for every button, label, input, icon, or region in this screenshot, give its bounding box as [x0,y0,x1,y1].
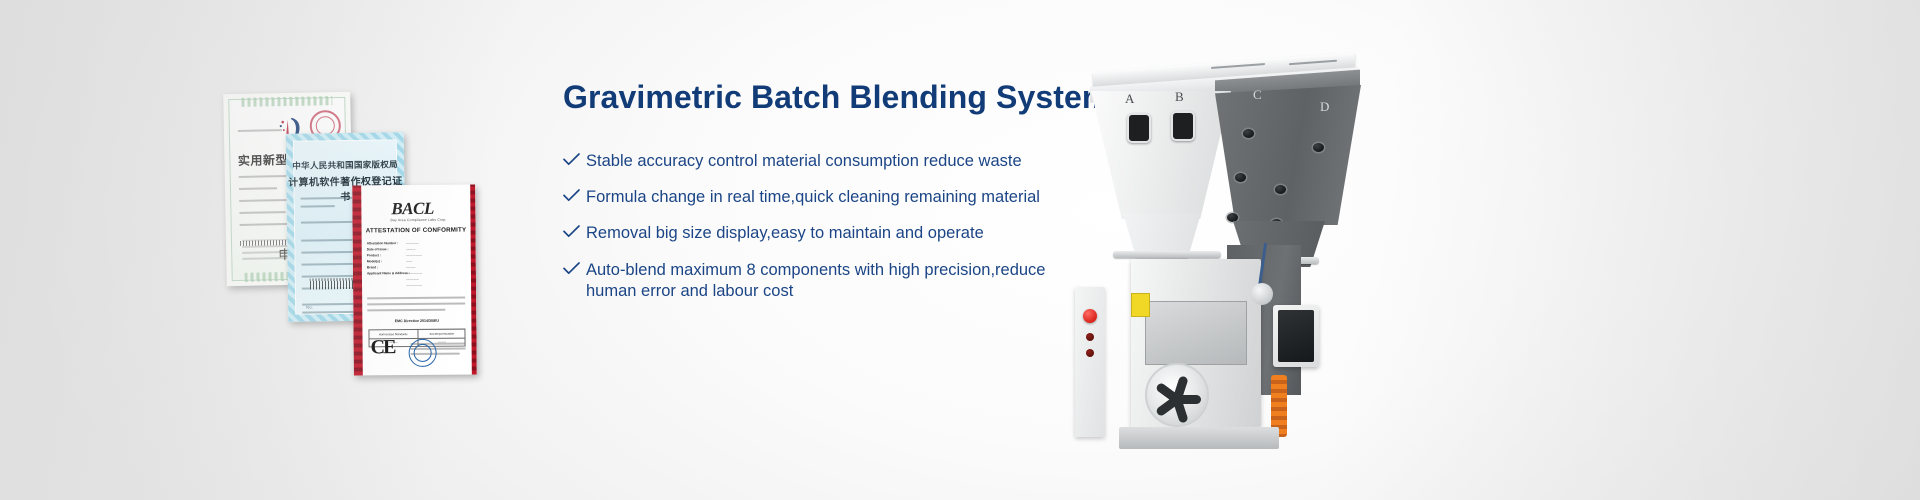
field-value: ——— [406,247,416,251]
product-banner: 实用新型专利证书 申长雨 中华人民共和国国家版权局 计算机软件著作权登记证书 [0,0,1920,500]
feature-item: Formula change in real time,quick cleani… [563,187,1083,208]
bacl-logo: BACL [391,199,434,219]
field-value: ————— [406,253,422,257]
cabinet-window [1145,301,1247,365]
certificate-collage: 实用新型专利证书 申长雨 中华人民共和国国家版权局 计算机软件著作权登记证书 [215,85,515,385]
directive-text: EMC Directive 2014/30/EU [364,319,469,324]
feature-text: Formula change in real time,quick cleani… [586,187,1083,208]
certificate-title: ATTESTATION OF CONFORMITY [364,227,469,235]
field-label: Applicant Name & Address : [367,271,410,275]
field-label: Model(s) : [367,259,382,263]
page-title: Gravimetric Batch Blending System [563,80,1083,115]
ce-mark-icon: CE [370,337,394,357]
body-line [367,303,465,306]
field-value: ———— [406,277,419,281]
body-line [367,297,465,300]
feature-list: Stable accuracy control material consump… [563,151,1083,302]
feature-text: Stable accuracy control material consump… [586,151,1083,172]
hopper-left-light [1091,91,1231,219]
check-icon [563,225,583,238]
hopper-right-dark [1215,85,1361,225]
hopper-label-d: D [1320,99,1329,115]
bolt-icon [1313,143,1324,152]
gravimetric-blender-machine: A B C D [1075,45,1395,495]
field-value: ————— [406,283,422,287]
check-icon [563,189,583,202]
check-icon [563,153,583,166]
lid-slot [1289,60,1337,66]
field-value: ————— [406,271,422,275]
panel-button[interactable] [1086,349,1094,357]
clamp-rail [1113,251,1221,258]
feature-item: Stable accuracy control material consump… [563,151,1083,172]
bolt-icon [1235,173,1246,182]
feature-text: Auto-blend maximum 8 components with hig… [586,260,1056,302]
hopper-label-c: C [1253,87,1262,103]
certificate-body: BACL Bay Area Compliance Labs Corp. ATTE… [363,185,470,376]
certificate-bacl-attestation: BACL Bay Area Compliance Labs Corp. ATTE… [352,184,477,375]
decorative-stripe-right [470,184,477,374]
certificate-number: No. [306,304,314,309]
field-label: Date of Issue : [367,247,389,251]
check-icon [563,262,583,275]
field-label: Attestation Number : [367,241,399,245]
ornament-top [241,96,332,107]
feature-item: Auto-blend maximum 8 components with hig… [563,260,1083,302]
warning-label [1131,293,1150,317]
banner-text-block: Gravimetric Batch Blending System Stable… [563,80,1083,302]
hmi-display[interactable] [1278,310,1314,362]
bolt-icon [1243,129,1254,138]
hmi-touch-screen[interactable] [1273,305,1319,367]
panel-button[interactable] [1086,333,1094,341]
valve [1251,283,1273,305]
bolt-icon [1227,213,1238,222]
field-value: ——— [406,265,416,269]
inspection-port [1171,111,1195,141]
decorative-stripe-left [352,185,363,375]
blue-round-seal [409,339,437,367]
feature-text: Removal big size display,easy to maintai… [586,223,1083,244]
field-value: —— [406,259,412,263]
bacl-logo-subtitle: Bay Area Compliance Labs Corp. [390,218,446,222]
bolt-icon [1275,185,1286,194]
inspection-port [1127,113,1151,143]
hopper-label-b: B [1175,89,1184,105]
base-frame [1119,427,1279,449]
field-value: ———— [406,241,419,245]
hopper-label-a: A [1125,91,1134,107]
lid-slot [1211,63,1265,69]
control-panel[interactable] [1075,287,1105,437]
certificate-authority: 中华人民共和国国家版权局 [286,158,404,172]
field-label: Brand : [367,265,378,269]
field-label: Product : [367,253,381,257]
mixing-fan [1145,363,1209,427]
emergency-stop-button[interactable] [1083,309,1097,323]
feature-item: Removal big size display,easy to maintai… [563,223,1083,244]
body-line [367,309,445,312]
